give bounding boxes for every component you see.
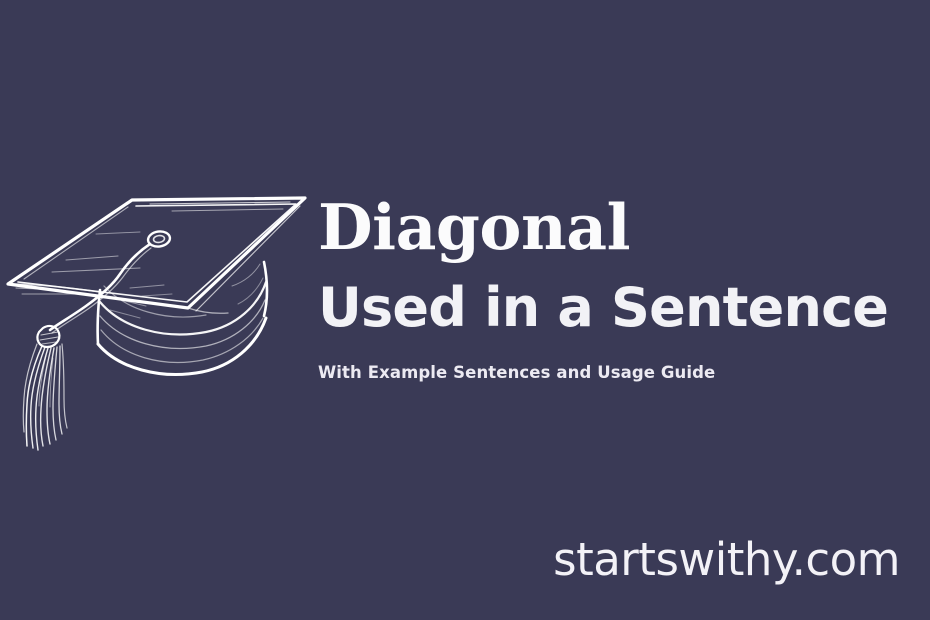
- banner-text-block: Diagonal Used in a Sentence With Example…: [318, 196, 918, 382]
- site-brand: startswithy.com: [553, 537, 900, 582]
- word-banner: Diagonal Used in a Sentence With Example…: [0, 0, 930, 620]
- graduation-cap-sketch-icon: [0, 178, 320, 458]
- page-title: Diagonal: [318, 196, 918, 259]
- headline: Used in a Sentence: [318, 281, 918, 335]
- subtitle: With Example Sentences and Usage Guide: [318, 365, 918, 382]
